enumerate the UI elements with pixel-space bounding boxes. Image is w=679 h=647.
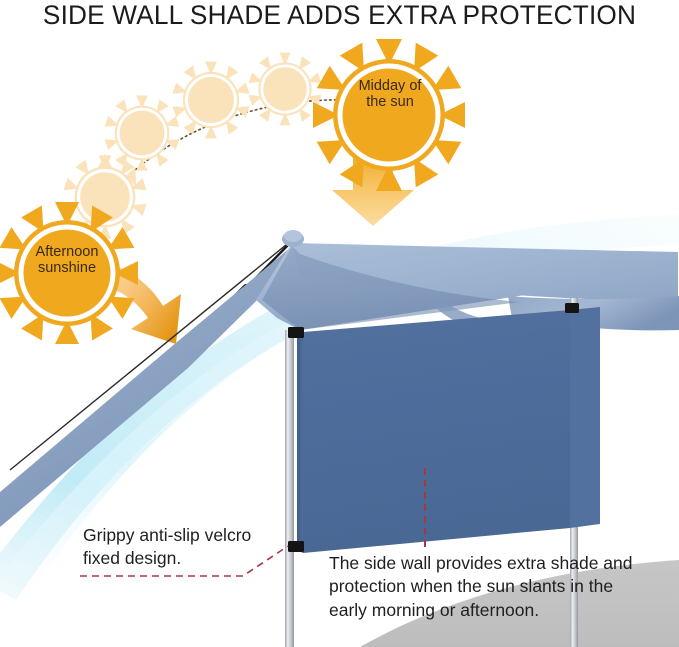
- velcro-tab-top-left: [288, 327, 304, 338]
- ghost-sun-group: [63, 53, 321, 239]
- velcro-callout-text: Grippy anti-slip velcro fixed design.: [83, 524, 313, 571]
- sidewall-callout-line3: early morning or afternoon.: [329, 599, 639, 622]
- infographic-canvas: SIDE WALL SHADE ADDS EXTRA PROTECTION: [0, 0, 679, 647]
- canopy-peak-cap: [282, 230, 304, 247]
- velcro-callout-line2: fixed design.: [83, 547, 313, 570]
- sidewall-callout-line2: protection when the sun slants in the: [329, 575, 639, 598]
- side-wall-panel: [303, 310, 570, 553]
- left-pole: [285, 330, 294, 647]
- side-wall-left-fold: [297, 332, 303, 553]
- sidewall-callout-text: The side wall provides extra shade and p…: [329, 552, 639, 622]
- velcro-tab-top-right: [565, 303, 579, 313]
- velcro-callout-line1: Grippy anti-slip velcro: [83, 524, 313, 547]
- side-wall-right-wrap: [570, 307, 600, 528]
- midday-sun-badge: [313, 39, 465, 191]
- sidewall-callout-line1: The side wall provides extra shade and: [329, 552, 639, 575]
